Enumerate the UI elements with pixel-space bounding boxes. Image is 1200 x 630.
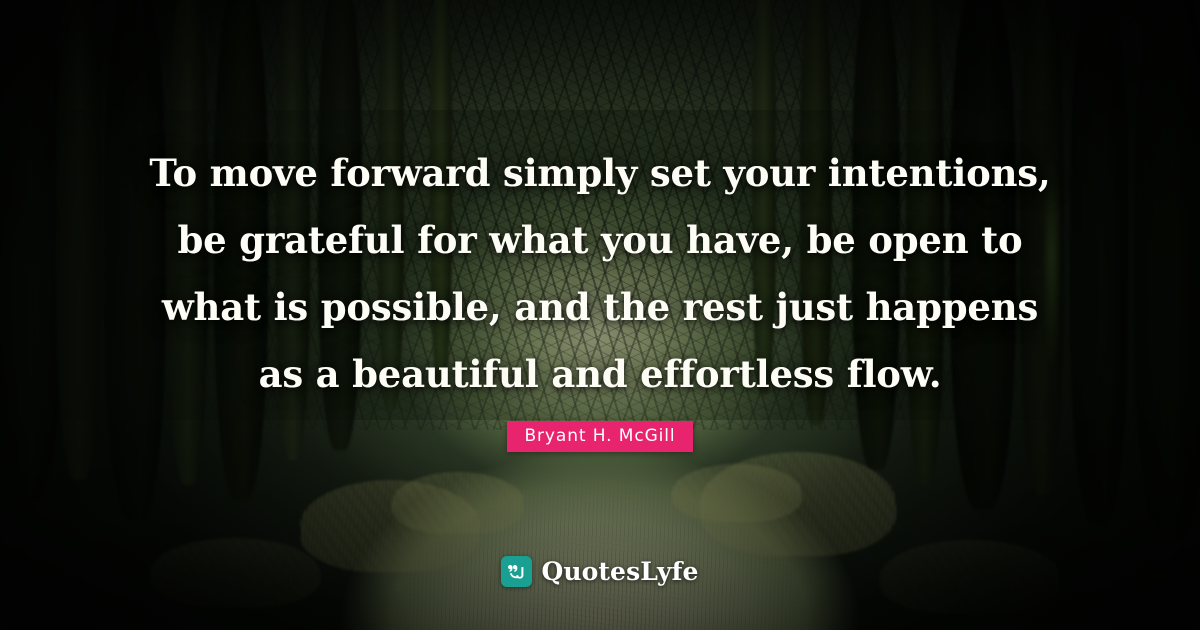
quote-text: To move forward simply set your intentio… xyxy=(0,140,1200,408)
brand-logo[interactable]: QuotesLyfe xyxy=(0,556,1200,587)
quote-line: To move forward simply set your intentio… xyxy=(70,140,1130,207)
quote-line: as a beautiful and effortless flow. xyxy=(70,341,1130,408)
quote-smiley-icon xyxy=(501,556,532,587)
author-attribution: Bryant H. McGill xyxy=(0,421,1200,452)
quote-line: be grateful for what you have, be open t… xyxy=(70,207,1130,274)
author-name-badge[interactable]: Bryant H. McGill xyxy=(507,421,692,452)
card-content: To move forward simply set your intentio… xyxy=(0,0,1200,630)
brand-name: QuotesLyfe xyxy=(541,557,698,586)
quote-line: what is possible, and the rest just happ… xyxy=(70,274,1130,341)
quote-card: To move forward simply set your intentio… xyxy=(0,0,1200,630)
